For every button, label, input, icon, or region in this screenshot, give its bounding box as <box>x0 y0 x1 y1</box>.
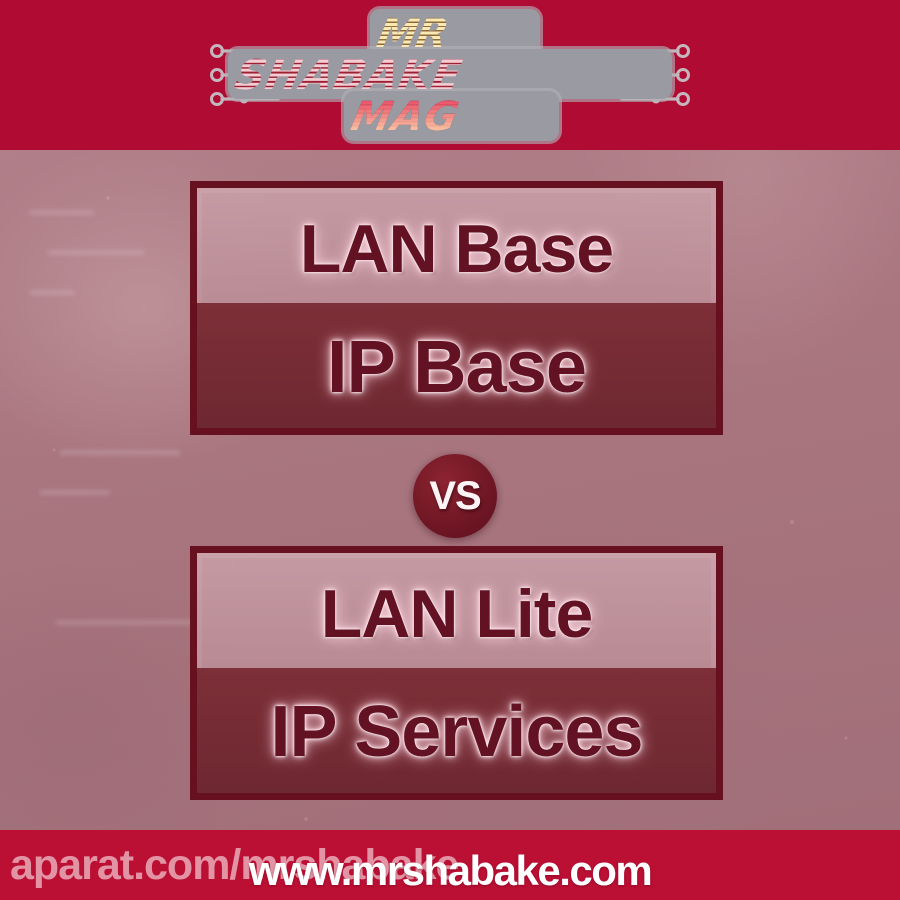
bottom-box-dark-band: IP Services <box>197 668 716 793</box>
footer-banner: aparat.com/mrshabake www.mrshabake.com <box>0 830 900 900</box>
versus-label: VS <box>429 476 480 516</box>
header-banner: MR SHABAKE MAG <box>0 0 900 150</box>
site-url-label: www.mrshabake.com <box>249 848 651 894</box>
top-box-primary-label: LAN Base <box>300 215 613 283</box>
comparison-box-bottom: LAN Lite IP Services <box>190 546 723 800</box>
screenshot-canvas: MR SHABAKE MAG LAN Base IP Base VS LAN L… <box>0 0 900 900</box>
top-box-secondary-label: IP Base <box>327 330 586 404</box>
top-box-dark-band: IP Base <box>197 303 716 428</box>
brand-text-mag: MAG <box>348 97 463 137</box>
brand-logo: MR SHABAKE MAG <box>220 5 680 145</box>
bottom-box-secondary-label: IP Services <box>271 696 643 768</box>
versus-badge: VS <box>413 454 497 538</box>
bottom-box-primary-label: LAN Lite <box>321 580 593 648</box>
top-box-light-band: LAN Base <box>197 188 716 303</box>
comparison-area: LAN Base IP Base VS LAN Lite IP Services <box>0 150 900 830</box>
brand-text-mr: MR <box>374 14 451 54</box>
brand-text-shabake: SHABAKE <box>232 55 466 96</box>
comparison-box-top: LAN Base IP Base <box>190 181 723 435</box>
brand-wordmark: MR SHABAKE MAG <box>220 5 680 145</box>
bottom-box-light-band: LAN Lite <box>197 553 716 668</box>
